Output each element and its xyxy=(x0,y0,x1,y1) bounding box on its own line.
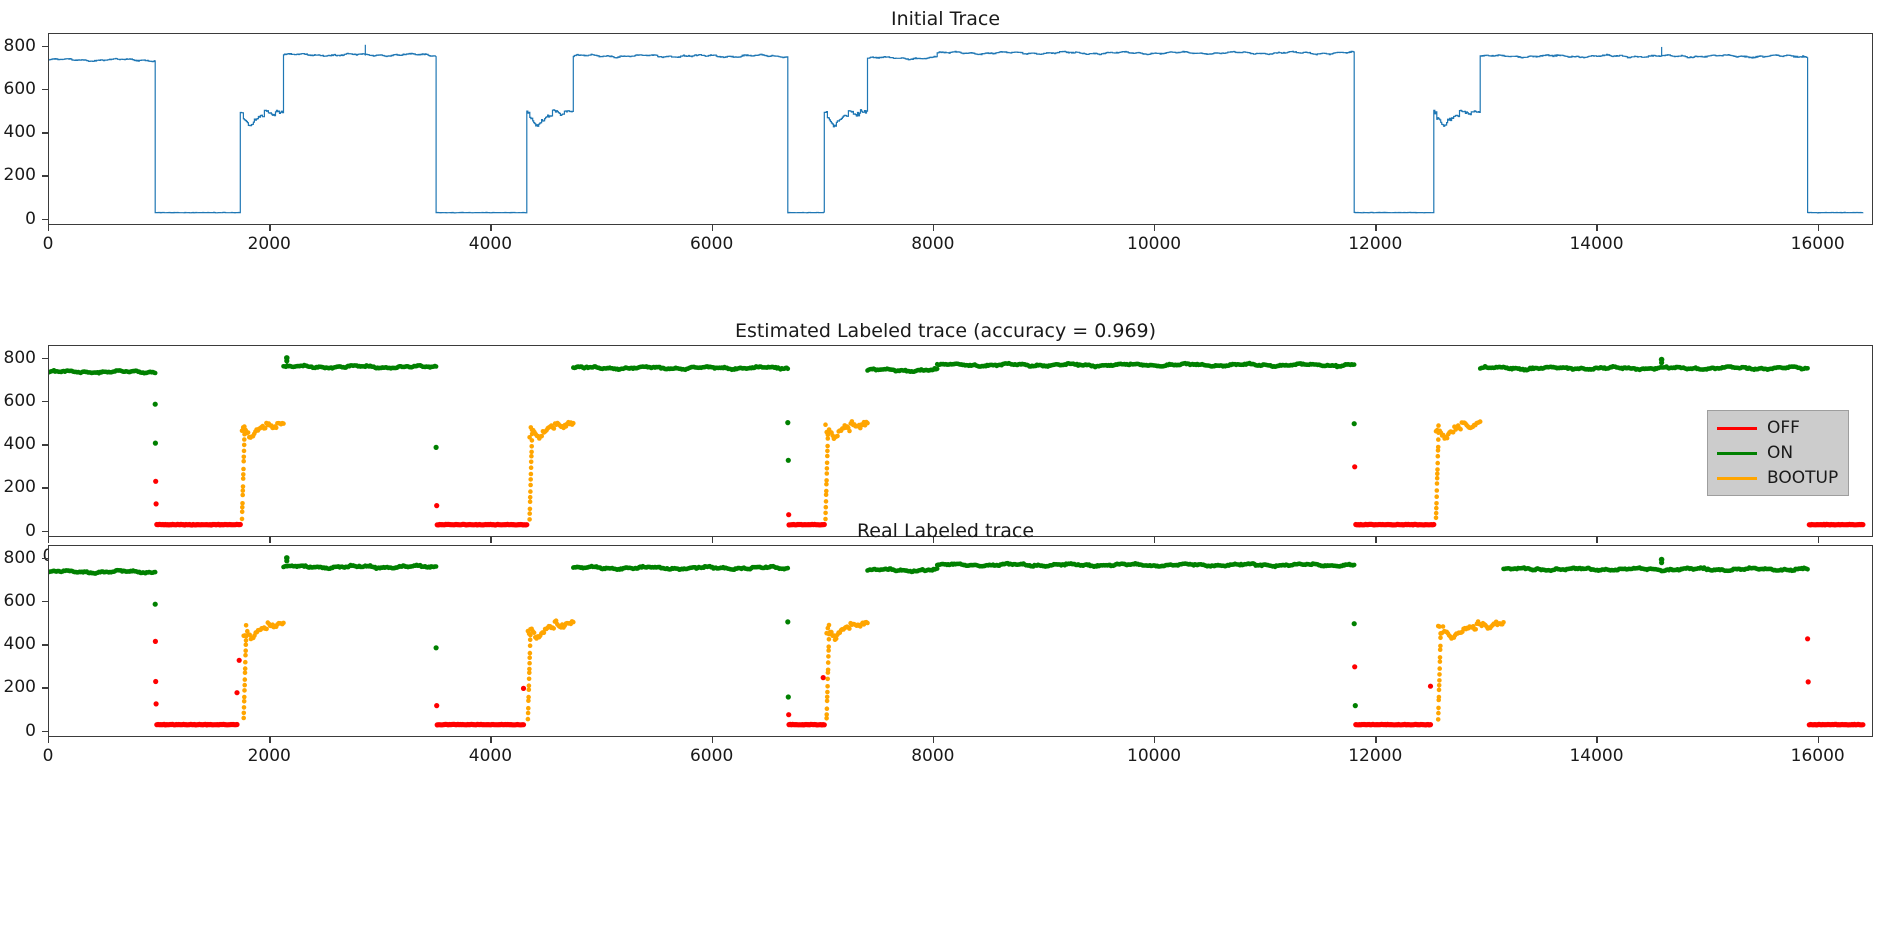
scatter-point xyxy=(1434,506,1439,511)
scatter-point xyxy=(825,461,830,466)
scatter-point xyxy=(527,683,532,688)
scatter-point xyxy=(825,677,830,682)
panel-initial-trace: Initial Trace 02004006008000200040006000… xyxy=(0,0,1891,260)
scatter-point xyxy=(241,488,246,493)
scatter-point xyxy=(528,477,533,482)
y-tick-label: 600 xyxy=(0,391,36,411)
x-tickmark xyxy=(269,737,270,743)
scatter-point xyxy=(1353,703,1358,708)
x-tick-label: 16000 xyxy=(1791,746,1845,766)
scatter-point xyxy=(825,684,830,689)
scatter-point xyxy=(1352,421,1357,426)
y-tick-label: 0 xyxy=(0,721,36,741)
x-tickmark xyxy=(1818,737,1819,743)
x-tick-label: 4000 xyxy=(469,234,512,254)
scatter-point xyxy=(153,441,158,446)
scatter-point xyxy=(825,699,830,704)
y-tickmark xyxy=(42,687,48,688)
scatter-point xyxy=(529,465,534,470)
scatter-point xyxy=(528,633,533,638)
scatter-point xyxy=(1437,683,1442,688)
x-tickmark xyxy=(490,225,491,231)
x-tick-label: 0 xyxy=(43,234,54,254)
scatter-point xyxy=(242,443,247,448)
scatter-point xyxy=(234,690,239,695)
x-tick-label: 2000 xyxy=(248,746,291,766)
scatter-point xyxy=(1435,476,1440,481)
legend-label-bootup: BOOTUP xyxy=(1767,470,1838,487)
scatter-point xyxy=(1659,360,1664,365)
scatter-point xyxy=(528,507,533,512)
y-tick-label: 200 xyxy=(0,477,36,497)
scatter-point xyxy=(1428,684,1433,689)
x-tick-label: 10000 xyxy=(1127,746,1181,766)
scatter-point xyxy=(786,367,791,372)
y-tickmark xyxy=(42,175,48,176)
scatter-point xyxy=(241,716,246,721)
scatter-point xyxy=(551,626,556,631)
scatter-group-on xyxy=(49,355,1810,463)
scatter-point xyxy=(1437,678,1442,683)
scatter-point xyxy=(242,449,247,454)
scatter-point xyxy=(1436,717,1441,722)
scatter-point xyxy=(243,666,248,671)
x-tickmark xyxy=(1596,737,1597,743)
scatter-point xyxy=(1438,636,1443,641)
scatter-point xyxy=(826,644,831,649)
scatter-point xyxy=(241,476,246,481)
scatter-points-real xyxy=(49,546,1874,738)
scatter-point xyxy=(824,478,829,483)
scatter-point xyxy=(243,670,248,675)
scatter-point xyxy=(153,570,158,575)
x-tick-label: 8000 xyxy=(911,234,954,254)
scatter-point xyxy=(241,467,246,472)
scatter-point xyxy=(1860,722,1865,727)
scatter-point xyxy=(274,426,279,431)
scatter-point xyxy=(434,364,439,369)
scatter-point xyxy=(1428,722,1433,727)
x-tickmark xyxy=(1375,225,1376,231)
scatter-point xyxy=(1436,437,1441,442)
y-tickmark xyxy=(42,219,48,220)
scatter-point xyxy=(825,471,830,476)
scatter-point xyxy=(243,653,248,658)
x-tickmark xyxy=(48,737,49,743)
scatter-point xyxy=(825,695,830,700)
scatter-point xyxy=(241,459,246,464)
legend: OFF ON BOOTUP xyxy=(1707,410,1849,496)
y-tickmark xyxy=(42,444,48,445)
scatter-point xyxy=(786,566,791,571)
scatter-point xyxy=(1352,563,1357,568)
legend-item-on[interactable]: ON xyxy=(1717,443,1838,463)
scatter-point xyxy=(240,493,245,498)
x-tickmark xyxy=(490,737,491,743)
scatter-point xyxy=(1352,362,1357,367)
y-tickmark xyxy=(42,358,48,359)
scatter-point xyxy=(529,444,534,449)
scatter-point xyxy=(527,677,532,682)
scatter-point xyxy=(1436,423,1441,428)
x-tickmark xyxy=(1596,225,1597,231)
scatter-point xyxy=(1434,494,1439,499)
scatter-point xyxy=(434,645,439,650)
scatter-point xyxy=(527,661,532,666)
scatter-point xyxy=(827,637,832,642)
legend-label-off: OFF xyxy=(1767,420,1800,437)
scatter-point xyxy=(1436,454,1441,459)
scatter-group-on xyxy=(49,555,1810,708)
scatter-point xyxy=(826,660,831,665)
scatter-point xyxy=(242,705,247,710)
scatter-group-bootup xyxy=(241,618,1505,721)
scatter-point xyxy=(153,639,158,644)
scatter-point xyxy=(529,472,534,477)
scatter-point xyxy=(527,667,532,672)
scatter-point xyxy=(527,655,532,660)
scatter-point xyxy=(1437,672,1442,677)
scatter-point xyxy=(571,421,576,426)
y-tick-label: 200 xyxy=(0,677,36,697)
scatter-point xyxy=(847,429,852,434)
scatter-point xyxy=(1501,620,1506,625)
y-tick-label: 0 xyxy=(0,209,36,229)
scatter-point xyxy=(153,371,158,376)
scatter-point xyxy=(242,432,247,437)
scatter-point xyxy=(153,479,158,484)
scatter-point xyxy=(785,420,790,425)
scatter-point xyxy=(824,505,829,510)
scatter-point xyxy=(434,503,439,508)
scatter-point xyxy=(243,648,248,653)
x-tick-label: 6000 xyxy=(690,234,733,254)
scatter-point xyxy=(1435,481,1440,486)
panel-title-initial-trace: Initial Trace xyxy=(0,8,1891,30)
scatter-point xyxy=(1435,472,1440,477)
scatter-point xyxy=(529,450,534,455)
x-tick-label: 14000 xyxy=(1569,234,1623,254)
scatter-point xyxy=(825,706,830,711)
scatter-point xyxy=(434,703,439,708)
scatter-point xyxy=(821,675,826,680)
scatter-point xyxy=(154,501,159,506)
x-tickmark xyxy=(1154,225,1155,231)
scatter-point xyxy=(154,701,159,706)
y-tickmark xyxy=(42,132,48,133)
scatter-point xyxy=(529,454,534,459)
scatter-points-estimated xyxy=(49,346,1874,538)
plot-area-estimated-labeled-trace xyxy=(48,345,1873,537)
legend-swatch-bootup xyxy=(1717,477,1757,480)
legend-label-on: ON xyxy=(1767,445,1793,462)
trace-polyline xyxy=(49,51,1863,213)
scatter-point xyxy=(1806,679,1811,684)
scatter-point xyxy=(1352,664,1357,669)
scatter-point xyxy=(1458,427,1463,432)
scatter-point xyxy=(1441,624,1446,629)
scatter-point xyxy=(823,422,828,427)
scatter-point xyxy=(526,706,531,711)
scatter-point xyxy=(935,367,940,372)
y-tick-label: 600 xyxy=(0,79,36,99)
x-tickmark xyxy=(933,737,934,743)
scatter-point xyxy=(1478,419,1483,424)
scatter-point xyxy=(825,466,830,471)
scatter-point xyxy=(786,694,791,699)
scatter-point xyxy=(865,421,870,426)
scatter-point xyxy=(528,651,533,656)
scatter-point xyxy=(827,623,832,628)
legend-swatch-on xyxy=(1717,452,1757,455)
scatter-point xyxy=(264,627,269,632)
y-tickmark xyxy=(42,731,48,732)
scatter-point xyxy=(1436,711,1441,716)
scatter-point xyxy=(824,712,829,717)
x-tick-label: 0 xyxy=(43,746,54,766)
scatter-point xyxy=(528,638,533,643)
scatter-point xyxy=(552,426,557,431)
scatter-point xyxy=(1805,567,1810,572)
scatter-point xyxy=(527,687,532,692)
scatter-point xyxy=(153,679,158,684)
scatter-point xyxy=(825,449,830,454)
scatter-point xyxy=(1438,655,1443,660)
scatter-point xyxy=(786,712,791,717)
x-tick-label: 12000 xyxy=(1348,746,1402,766)
scatter-point xyxy=(825,690,830,695)
scatter-point xyxy=(825,454,830,459)
x-tick-label: 4000 xyxy=(469,746,512,766)
x-tickmark xyxy=(269,225,270,231)
scatter-group-off xyxy=(153,636,1866,727)
x-tick-label: 2000 xyxy=(248,234,291,254)
scatter-point xyxy=(528,489,533,494)
scatter-point xyxy=(571,620,576,625)
scatter-point xyxy=(244,623,249,628)
scatter-point xyxy=(1435,488,1440,493)
legend-item-bootup[interactable]: BOOTUP xyxy=(1717,468,1838,488)
x-tickmark xyxy=(1154,737,1155,743)
scatter-point xyxy=(1352,621,1357,626)
scatter-point xyxy=(241,472,246,477)
y-tickmark xyxy=(42,601,48,602)
y-tickmark xyxy=(42,89,48,90)
y-tick-label: 800 xyxy=(0,36,36,56)
scatter-point xyxy=(526,717,531,722)
scatter-point xyxy=(865,621,870,626)
scatter-point xyxy=(243,677,248,682)
x-tick-label: 16000 xyxy=(1791,234,1845,254)
x-tickmark xyxy=(1818,225,1819,231)
scatter-point xyxy=(434,564,439,569)
scatter-point xyxy=(1445,436,1450,441)
figure-canvas: Initial Trace 02004006008000200040006000… xyxy=(0,0,1891,944)
scatter-point xyxy=(242,699,247,704)
scatter-point xyxy=(240,505,245,510)
scatter-point xyxy=(1436,706,1441,711)
scatter-point xyxy=(281,421,286,426)
x-tick-label: 10000 xyxy=(1127,234,1181,254)
scatter-point xyxy=(234,722,239,727)
scatter-point xyxy=(244,638,249,643)
plot-area-initial-trace xyxy=(48,33,1873,225)
scatter-point xyxy=(824,489,829,494)
scatter-point xyxy=(786,458,791,463)
y-tickmark xyxy=(42,46,48,47)
scatter-point xyxy=(826,654,831,659)
scatter-point xyxy=(242,683,247,688)
scatter-point xyxy=(242,695,247,700)
scatter-point xyxy=(526,695,531,700)
trace-line-initial xyxy=(49,34,1874,226)
y-tick-label: 400 xyxy=(0,122,36,142)
y-tick-label: 800 xyxy=(0,348,36,368)
y-tickmark xyxy=(42,644,48,645)
scatter-point xyxy=(825,444,830,449)
scatter-point xyxy=(153,402,158,407)
scatter-point xyxy=(530,438,535,443)
scatter-point xyxy=(1805,636,1810,641)
y-tick-label: 400 xyxy=(0,434,36,454)
scatter-point xyxy=(284,358,289,363)
scatter-point xyxy=(244,634,249,639)
scatter-point xyxy=(827,632,832,637)
x-tickmark xyxy=(712,225,713,231)
scatter-point xyxy=(528,499,533,504)
y-tick-label: 400 xyxy=(0,634,36,654)
scatter-point xyxy=(242,711,247,716)
x-tick-label: 14000 xyxy=(1569,746,1623,766)
scatter-point xyxy=(1437,666,1442,671)
y-tickmark xyxy=(42,487,48,488)
scatter-point xyxy=(1438,659,1443,664)
scatter-point xyxy=(530,432,535,437)
x-tick-label: 8000 xyxy=(911,746,954,766)
x-tickmark xyxy=(1375,737,1376,743)
scatter-point xyxy=(241,484,246,489)
scatter-point xyxy=(153,602,158,607)
scatter-point xyxy=(1352,464,1357,469)
scatter-point xyxy=(826,668,831,673)
scatter-group-bootup xyxy=(240,419,1483,522)
x-tickmark xyxy=(933,225,934,231)
scatter-point xyxy=(521,722,526,727)
scatter-point xyxy=(847,626,852,631)
scatter-point xyxy=(1438,644,1443,649)
scatter-point xyxy=(1435,461,1440,466)
scatter-point xyxy=(281,621,286,626)
scatter-point xyxy=(434,445,439,450)
scatter-point xyxy=(244,642,249,647)
y-tickmark xyxy=(42,558,48,559)
scatter-point xyxy=(242,455,247,460)
scatter-point xyxy=(521,686,526,691)
scatter-point xyxy=(284,558,289,563)
scatter-point xyxy=(834,636,839,641)
scatter-point xyxy=(1434,501,1439,506)
plot-area-real-labeled-trace xyxy=(48,545,1873,737)
panel-title-estimated-labeled-trace: Estimated Labeled trace (accuracy = 0.96… xyxy=(0,320,1891,342)
scatter-point xyxy=(528,643,533,648)
y-tick-label: 200 xyxy=(0,165,36,185)
scatter-point xyxy=(1659,560,1664,565)
scatter-point xyxy=(1805,366,1810,371)
panel-real-labeled-trace: Real Labeled trace 020040060080002000400… xyxy=(0,512,1891,772)
scatter-point xyxy=(826,433,831,438)
scatter-point xyxy=(243,660,248,665)
scatter-point xyxy=(1436,445,1441,450)
legend-swatch-off xyxy=(1717,427,1757,430)
x-tick-label: 6000 xyxy=(690,746,733,766)
scatter-point xyxy=(1437,688,1442,693)
x-tickmark xyxy=(48,225,49,231)
scatter-point xyxy=(1437,695,1442,700)
scatter-point xyxy=(528,483,533,488)
panel-title-real-labeled-trace: Real Labeled trace xyxy=(0,520,1891,542)
y-tick-label: 600 xyxy=(0,591,36,611)
scatter-point xyxy=(1473,627,1478,632)
scatter-point xyxy=(242,688,247,693)
x-tickmark xyxy=(712,737,713,743)
scatter-point xyxy=(237,658,242,663)
scatter-point xyxy=(785,619,790,624)
scatter-point xyxy=(835,434,840,439)
legend-item-off[interactable]: OFF xyxy=(1717,418,1838,438)
y-tick-label: 800 xyxy=(0,548,36,568)
scatter-point xyxy=(822,722,827,727)
y-tickmark xyxy=(42,401,48,402)
scatter-point xyxy=(1436,430,1441,435)
scatter-point xyxy=(529,460,534,465)
scatter-point xyxy=(528,495,533,500)
x-tick-label: 12000 xyxy=(1348,234,1402,254)
scatter-point xyxy=(1435,467,1440,472)
scatter-point xyxy=(1438,631,1443,636)
scatter-point xyxy=(824,499,829,504)
scatter-point xyxy=(242,437,247,442)
scatter-point xyxy=(526,711,531,716)
scatter-point xyxy=(240,501,245,506)
